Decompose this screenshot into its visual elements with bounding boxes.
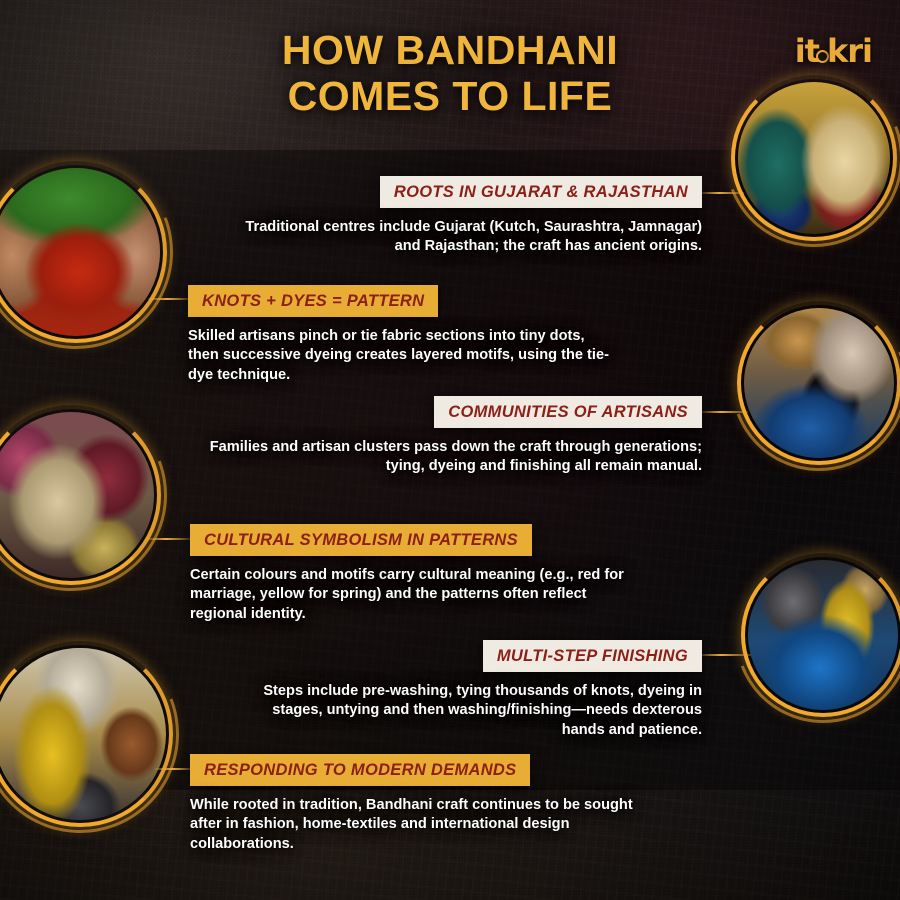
photo-fabric-cluster-image bbox=[0, 412, 154, 578]
photo-yellow-dye-image bbox=[0, 648, 166, 820]
section-knots-dyes: KNOTS + DYES = PATTERN Skilled artisans … bbox=[188, 285, 618, 385]
section-finishing-heading: MULTI-STEP FINISHING bbox=[483, 640, 702, 672]
photo-indigo-vat bbox=[748, 560, 898, 710]
section-finishing: MULTI-STEP FINISHING Steps include pre-w… bbox=[248, 640, 702, 740]
connector-line-communities bbox=[700, 411, 748, 413]
photo-dyer-vat bbox=[744, 308, 894, 458]
connector-line-knots bbox=[148, 298, 190, 300]
section-modern-demands-heading: RESPONDING TO MODERN DEMANDS bbox=[190, 754, 530, 786]
section-knots-dyes-heading: KNOTS + DYES = PATTERN bbox=[188, 285, 438, 317]
photo-fabric-cluster bbox=[0, 412, 154, 578]
photo-dyer-vat-disc bbox=[744, 308, 894, 458]
connector-line-symbolism bbox=[146, 538, 190, 540]
photo-yellow-dye bbox=[0, 648, 166, 820]
photo-tying-hands-disc bbox=[0, 168, 160, 336]
connector-line-modern bbox=[155, 768, 193, 770]
connector-line-finishing bbox=[697, 654, 751, 656]
title-line-2: COMES TO LIFE bbox=[170, 74, 730, 120]
section-roots-heading: ROOTS IN GUJARAT & RAJASTHAN bbox=[380, 176, 702, 208]
section-communities-body: Families and artisan clusters pass down … bbox=[200, 438, 702, 477]
photo-dyer-vat-image bbox=[744, 308, 894, 458]
photo-yellow-dye-disc bbox=[0, 648, 166, 820]
section-symbolism-heading: CULTURAL SYMBOLISM IN PATTERNS bbox=[190, 524, 532, 556]
photo-women-tying-image bbox=[738, 82, 890, 234]
section-communities: COMMUNITIES OF ARTISANS Families and art… bbox=[200, 396, 702, 477]
connector-line-roots bbox=[699, 192, 744, 194]
section-roots: ROOTS IN GUJARAT & RAJASTHAN Traditional… bbox=[236, 176, 702, 257]
photo-tying-hands bbox=[0, 168, 160, 336]
section-modern-demands: RESPONDING TO MODERN DEMANDS While roote… bbox=[190, 754, 660, 854]
infographic-poster: HOW BANDHANI COMES TO LIFE itkri bbox=[0, 0, 900, 900]
page-title: HOW BANDHANI COMES TO LIFE bbox=[170, 28, 730, 120]
section-finishing-body: Steps include pre-washing, tying thousan… bbox=[248, 682, 702, 740]
photo-tying-hands-image bbox=[0, 168, 160, 336]
photo-women-tying-disc bbox=[738, 82, 890, 234]
photo-indigo-vat-disc bbox=[748, 560, 898, 710]
photo-women-tying bbox=[738, 82, 890, 234]
logo-text-after: kri bbox=[827, 32, 872, 70]
photo-indigo-vat-image bbox=[748, 560, 898, 710]
section-knots-dyes-body: Skilled artisans pinch or tie fabric sec… bbox=[188, 327, 618, 385]
section-roots-body: Traditional centres include Gujarat (Kut… bbox=[236, 218, 702, 257]
section-symbolism: CULTURAL SYMBOLISM IN PATTERNS Certain c… bbox=[190, 524, 630, 624]
photo-fabric-cluster-disc bbox=[0, 412, 154, 578]
section-modern-demands-body: While rooted in tradition, Bandhani craf… bbox=[190, 796, 660, 854]
logo-text-before: it bbox=[795, 32, 819, 70]
brand-logo[interactable]: itkri bbox=[795, 32, 872, 70]
section-symbolism-body: Certain colours and motifs carry cultura… bbox=[190, 566, 630, 624]
section-communities-heading: COMMUNITIES OF ARTISANS bbox=[434, 396, 702, 428]
title-line-1: HOW BANDHANI bbox=[170, 28, 730, 74]
